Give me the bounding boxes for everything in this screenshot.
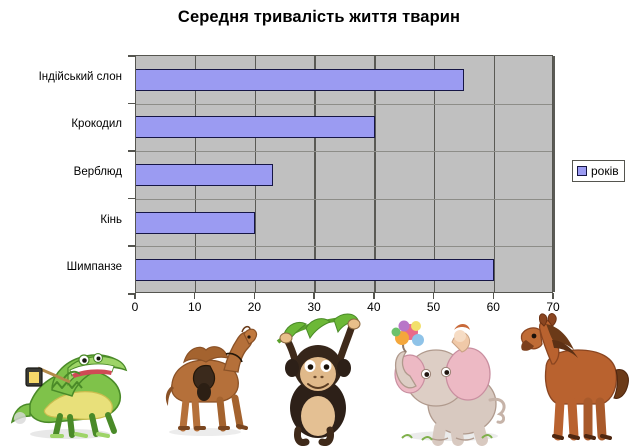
x-axis-tick-70 bbox=[552, 293, 554, 299]
gridline-30 bbox=[314, 56, 316, 292]
bar-4[interactable] bbox=[136, 212, 255, 234]
camel-image bbox=[150, 312, 260, 446]
bar-5[interactable] bbox=[136, 259, 494, 281]
crocodile-image bbox=[8, 312, 128, 446]
x-axis-tick-10 bbox=[194, 293, 196, 299]
y-axis-tick bbox=[128, 198, 135, 200]
animal-image-strip bbox=[0, 312, 638, 446]
x-axis-tick-20 bbox=[254, 293, 256, 299]
y-axis-label-2: Крокодил bbox=[71, 118, 122, 130]
y-axis-tick bbox=[128, 55, 135, 57]
y-axis-labels: Індійський слонКрокодилВерблюдКіньШимпан… bbox=[0, 55, 130, 293]
bar-2[interactable] bbox=[136, 116, 375, 138]
plot-area bbox=[135, 55, 553, 293]
legend-label: років bbox=[591, 164, 619, 178]
page-title: Середня тривалість життя тварин bbox=[0, 8, 638, 27]
gridline-70 bbox=[553, 56, 555, 292]
chart-page: Середня тривалість життя тварин Індійськ… bbox=[0, 0, 638, 446]
y-axis-label-3: Верблюд bbox=[74, 166, 122, 178]
category-separator bbox=[136, 199, 552, 200]
gridline-60 bbox=[494, 56, 496, 292]
category-separator bbox=[136, 104, 552, 105]
y-axis-label-5: Шимпанзе bbox=[67, 261, 122, 273]
chart-legend: років bbox=[572, 160, 625, 182]
bar-3[interactable] bbox=[136, 164, 273, 186]
category-separator bbox=[136, 151, 552, 152]
category-separator bbox=[136, 246, 552, 247]
x-axis-tick-50 bbox=[433, 293, 435, 299]
bar-1[interactable] bbox=[136, 69, 464, 91]
gridline-40 bbox=[374, 56, 376, 292]
y-axis-tick bbox=[128, 293, 135, 295]
y-axis-tick bbox=[128, 150, 135, 152]
y-axis-label-1: Індійський слон bbox=[39, 71, 122, 83]
y-axis-label-4: Кінь bbox=[100, 214, 122, 226]
horse-image bbox=[516, 312, 634, 446]
x-axis-tick-30 bbox=[313, 293, 315, 299]
x-axis-tick-40 bbox=[373, 293, 375, 299]
elephant-image bbox=[382, 312, 514, 446]
chimpanzee-image bbox=[272, 312, 390, 446]
legend-color-swatch bbox=[577, 166, 587, 176]
y-axis-tick bbox=[128, 103, 135, 105]
y-axis-tick bbox=[128, 245, 135, 247]
x-axis-tick-60 bbox=[493, 293, 495, 299]
gridline-50 bbox=[434, 56, 436, 292]
